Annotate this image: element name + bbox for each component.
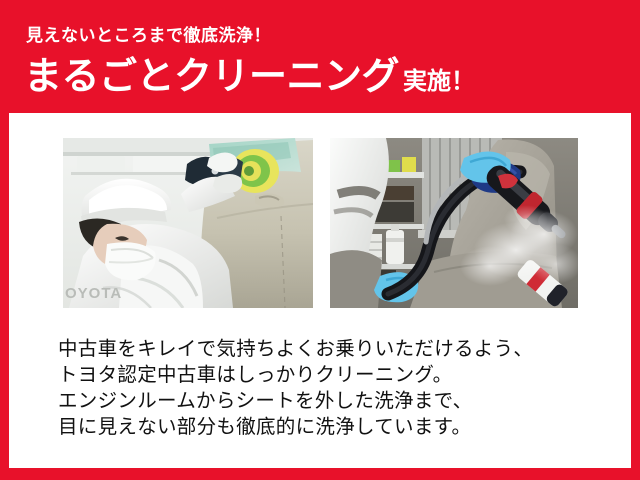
cleaning-promo-banner: 見えないところまで徹底洗浄！ まるごとクリーニング 実施！ [0,0,640,480]
photo-left-illustration: OYOTA [63,138,313,308]
body-copy: 中古車をキレイで気持ちよくお乗りいただけるよう、 トヨタ認定中古車はしっかりクリ… [58,336,598,440]
content-panel: OYOTA [9,113,631,468]
header-kicker: 見えないところまで徹底洗浄！ [26,27,271,44]
svg-text:OYOTA: OYOTA [65,285,122,302]
body-line-3: エンジンルームからシートを外した洗浄まで、 [58,388,598,414]
photo-interior-steam-cleaning [330,138,578,308]
headline-sub: 実施！ [403,70,475,94]
headline-main: まるごとクリーニング [24,58,399,96]
headline-row: まるごとクリーニング 実施！ [24,58,475,96]
photo-right-illustration [330,138,578,308]
body-line-2: トヨタ認定中古車はしっかりクリーニング。 [58,362,598,388]
banner-header: 見えないところまで徹底洗浄！ まるごとクリーニング 実施！ [0,0,640,113]
body-line-4: 目に見えない部分も徹底的に洗浄しています。 [58,414,598,440]
body-line-1: 中古車をキレイで気持ちよくお乗りいただけるよう、 [58,336,598,362]
photo-car-exterior-polishing: OYOTA [63,138,313,308]
photo-row: OYOTA [9,113,631,313]
